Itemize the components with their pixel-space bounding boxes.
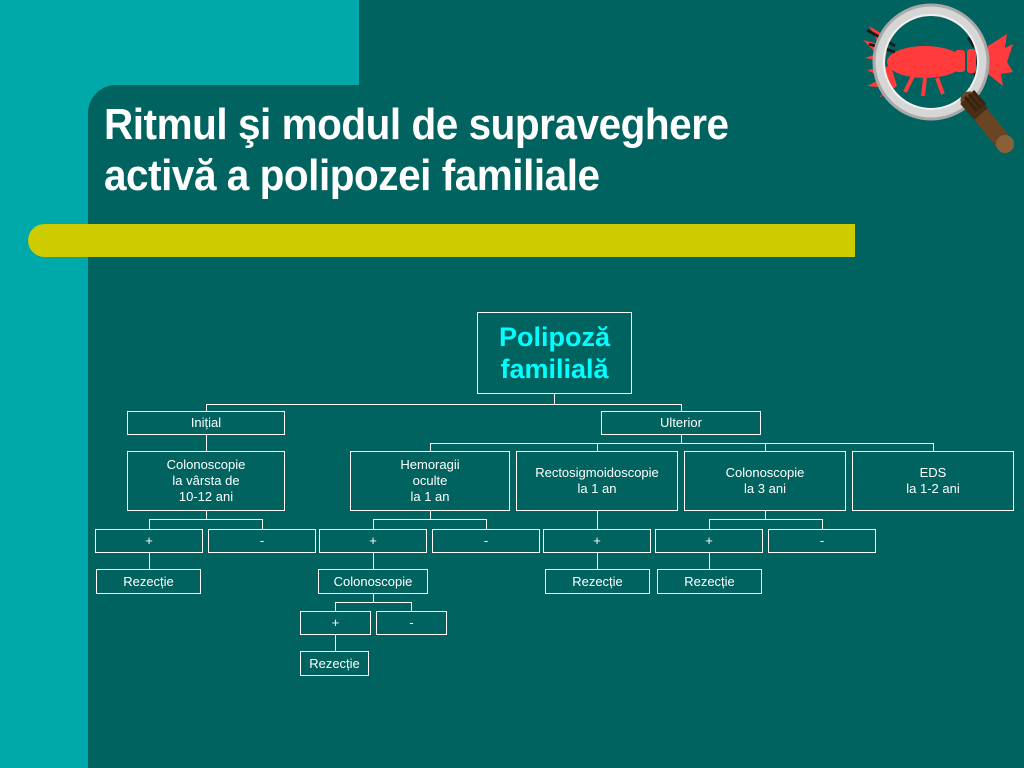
teal-accent-band [0,0,359,86]
magnifier-lobster-logo [855,0,1024,170]
magnifying-glass-icon [874,5,1014,153]
slide-canvas: Ritmul şi modul de supraveghere activă a… [0,0,1024,768]
page-title: Ritmul şi modul de supraveghere activă a… [104,100,803,201]
yellow-accent-bar [28,224,855,257]
